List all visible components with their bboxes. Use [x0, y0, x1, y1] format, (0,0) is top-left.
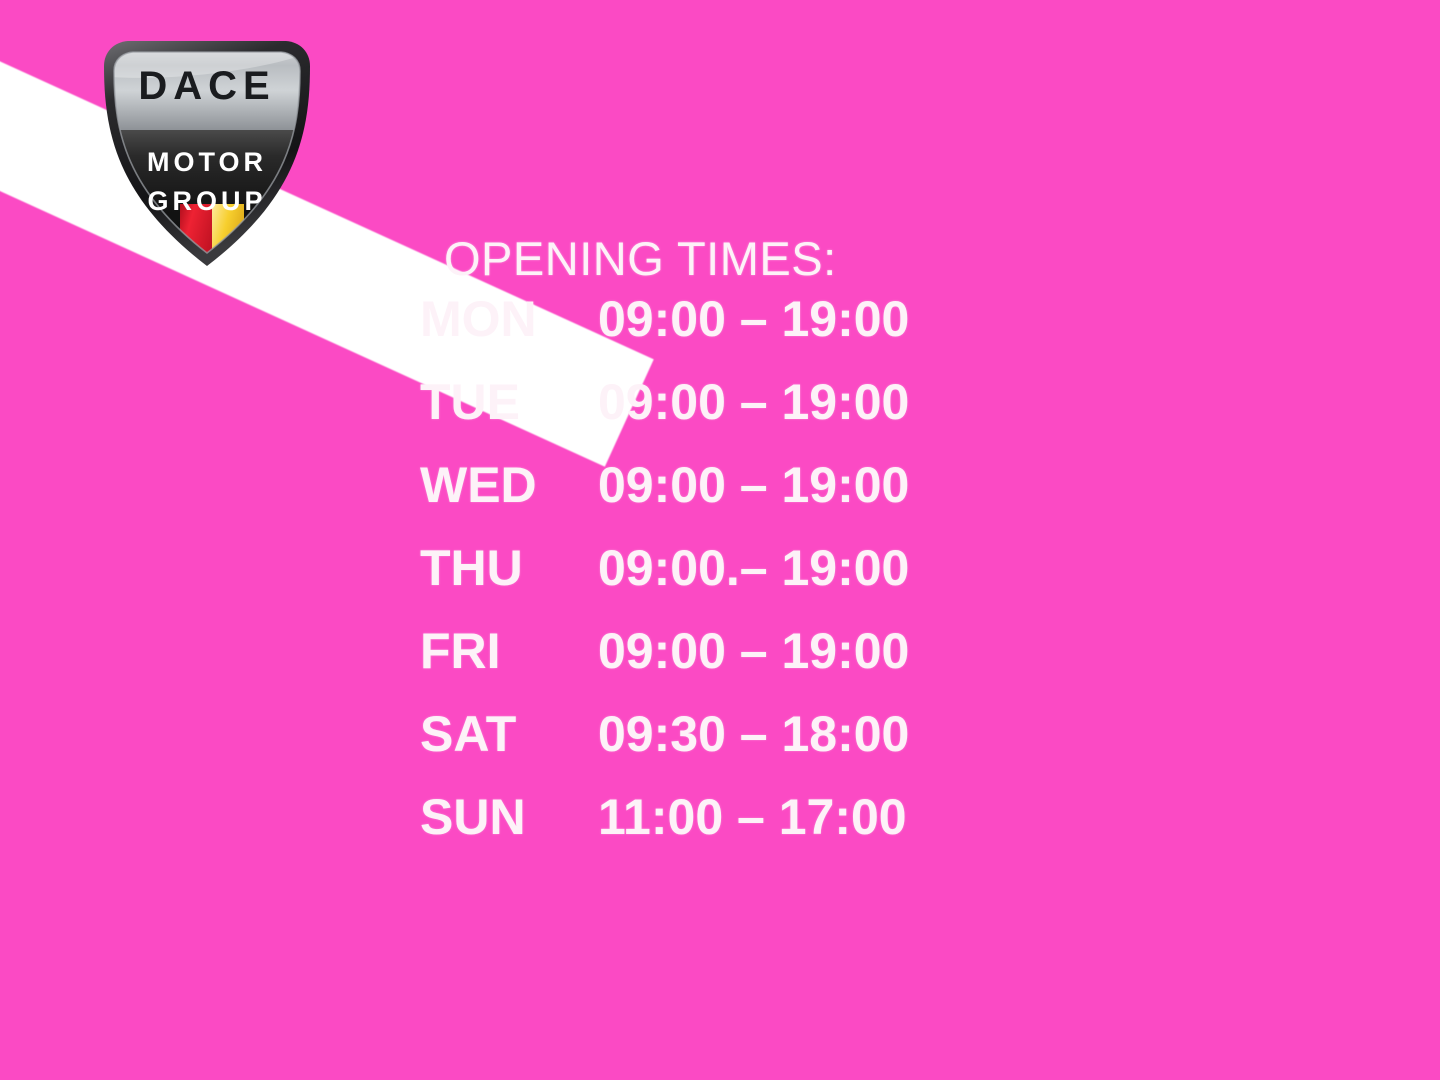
logo-top-text: DACE [138, 64, 275, 108]
table-row: TUE 09:00 – 19:00 [420, 373, 1040, 456]
table-row: FRI 09:00 – 19:00 [420, 622, 1040, 705]
hours-value: 11:00 – 17:00 [598, 788, 907, 846]
table-row: WED 09:00 – 19:00 [420, 456, 1040, 539]
opening-times-block: OPENING TIMES: MON 09:00 – 19:00 TUE 09:… [420, 228, 1040, 871]
table-row: SUN 11:00 – 17:00 [420, 788, 1040, 871]
day-label: TUE [420, 373, 598, 431]
dace-motor-group-logo: DACE MOTOR GROUP [82, 26, 332, 274]
opening-times-title: OPENING TIMES: [420, 228, 1040, 290]
hours-value: 09:00 – 19:00 [598, 373, 909, 431]
logo-mid-text: MOTOR [147, 147, 267, 177]
poster-canvas: DACE MOTOR GROUP OPENING TIMES: MON 09:0… [0, 0, 1440, 1080]
day-label: SAT [420, 705, 598, 763]
day-label: SUN [420, 788, 598, 846]
day-label: FRI [420, 622, 598, 680]
hours-value: 09:00 – 19:00 [598, 290, 909, 348]
table-row: MON 09:00 – 19:00 [420, 290, 1040, 373]
table-row: SAT 09:30 – 18:00 [420, 705, 1040, 788]
day-label: MON [420, 290, 598, 348]
hours-value: 09:30 – 18:00 [598, 705, 909, 763]
hours-value: 09:00 – 19:00 [598, 456, 909, 514]
hours-value: 09:00 – 19:00 [598, 622, 909, 680]
day-label: WED [420, 456, 598, 514]
day-label: THU [420, 539, 598, 597]
table-row: THU 09:00.– 19:00 [420, 539, 1040, 622]
hours-value: 09:00.– 19:00 [598, 539, 909, 597]
logo-bottom-text: GROUP [147, 186, 266, 216]
